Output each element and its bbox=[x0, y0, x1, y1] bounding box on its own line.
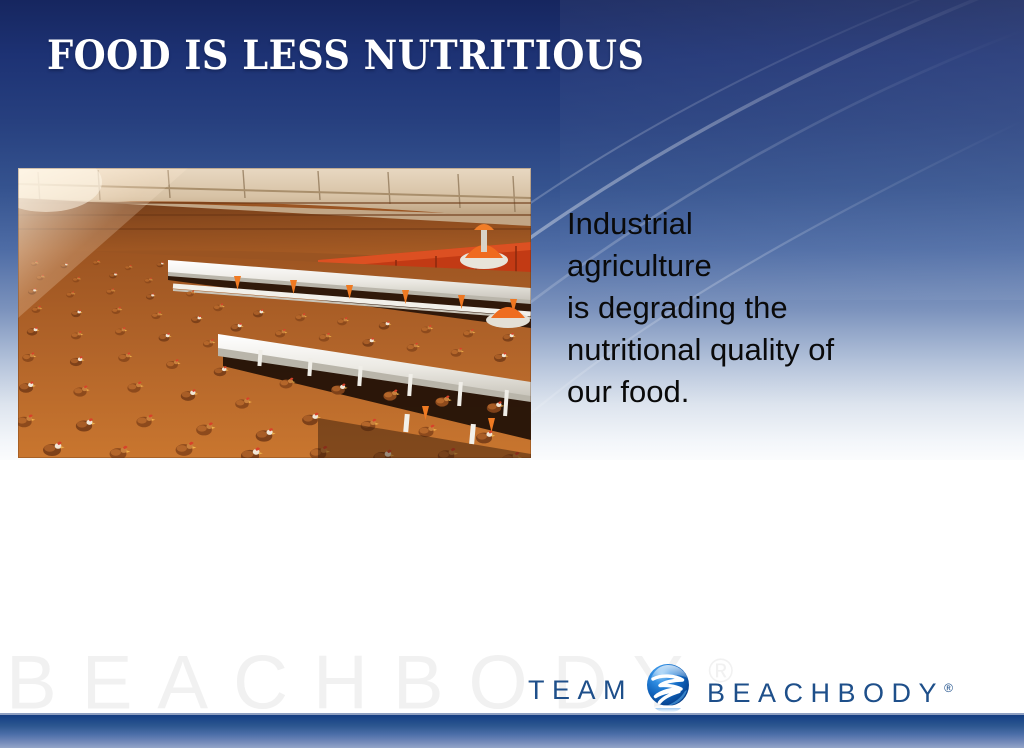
body-line-4: nutritional quality of bbox=[567, 329, 967, 371]
logo-word-team: TEAM bbox=[528, 675, 633, 705]
logo-registered-icon: ® bbox=[944, 681, 953, 695]
logo-word-beachbody-text: BEACHBODY bbox=[707, 678, 944, 708]
slide-title: FOOD IS LESS NUTRITIOUS bbox=[47, 33, 644, 79]
body-line-2: agriculture bbox=[567, 245, 967, 287]
logo-word-beachbody: BEACHBODY® bbox=[707, 673, 953, 708]
body-line-1: Industrial bbox=[567, 203, 967, 245]
chicken-farm-photo bbox=[18, 168, 531, 458]
body-line-5: our food. bbox=[567, 371, 967, 413]
photo-artwork bbox=[18, 168, 531, 458]
presentation-slide: FOOD IS LESS NUTRITIOUS bbox=[0, 0, 1024, 748]
body-line-3: is degrading the bbox=[567, 287, 967, 329]
body-paragraph: Industrial agriculture is degrading the … bbox=[567, 203, 967, 413]
beachbody-sphere-swoosh-icon bbox=[643, 662, 699, 718]
team-beachbody-logo[interactable]: TEAM bbox=[528, 660, 953, 720]
bottom-blue-bar bbox=[0, 715, 1024, 748]
